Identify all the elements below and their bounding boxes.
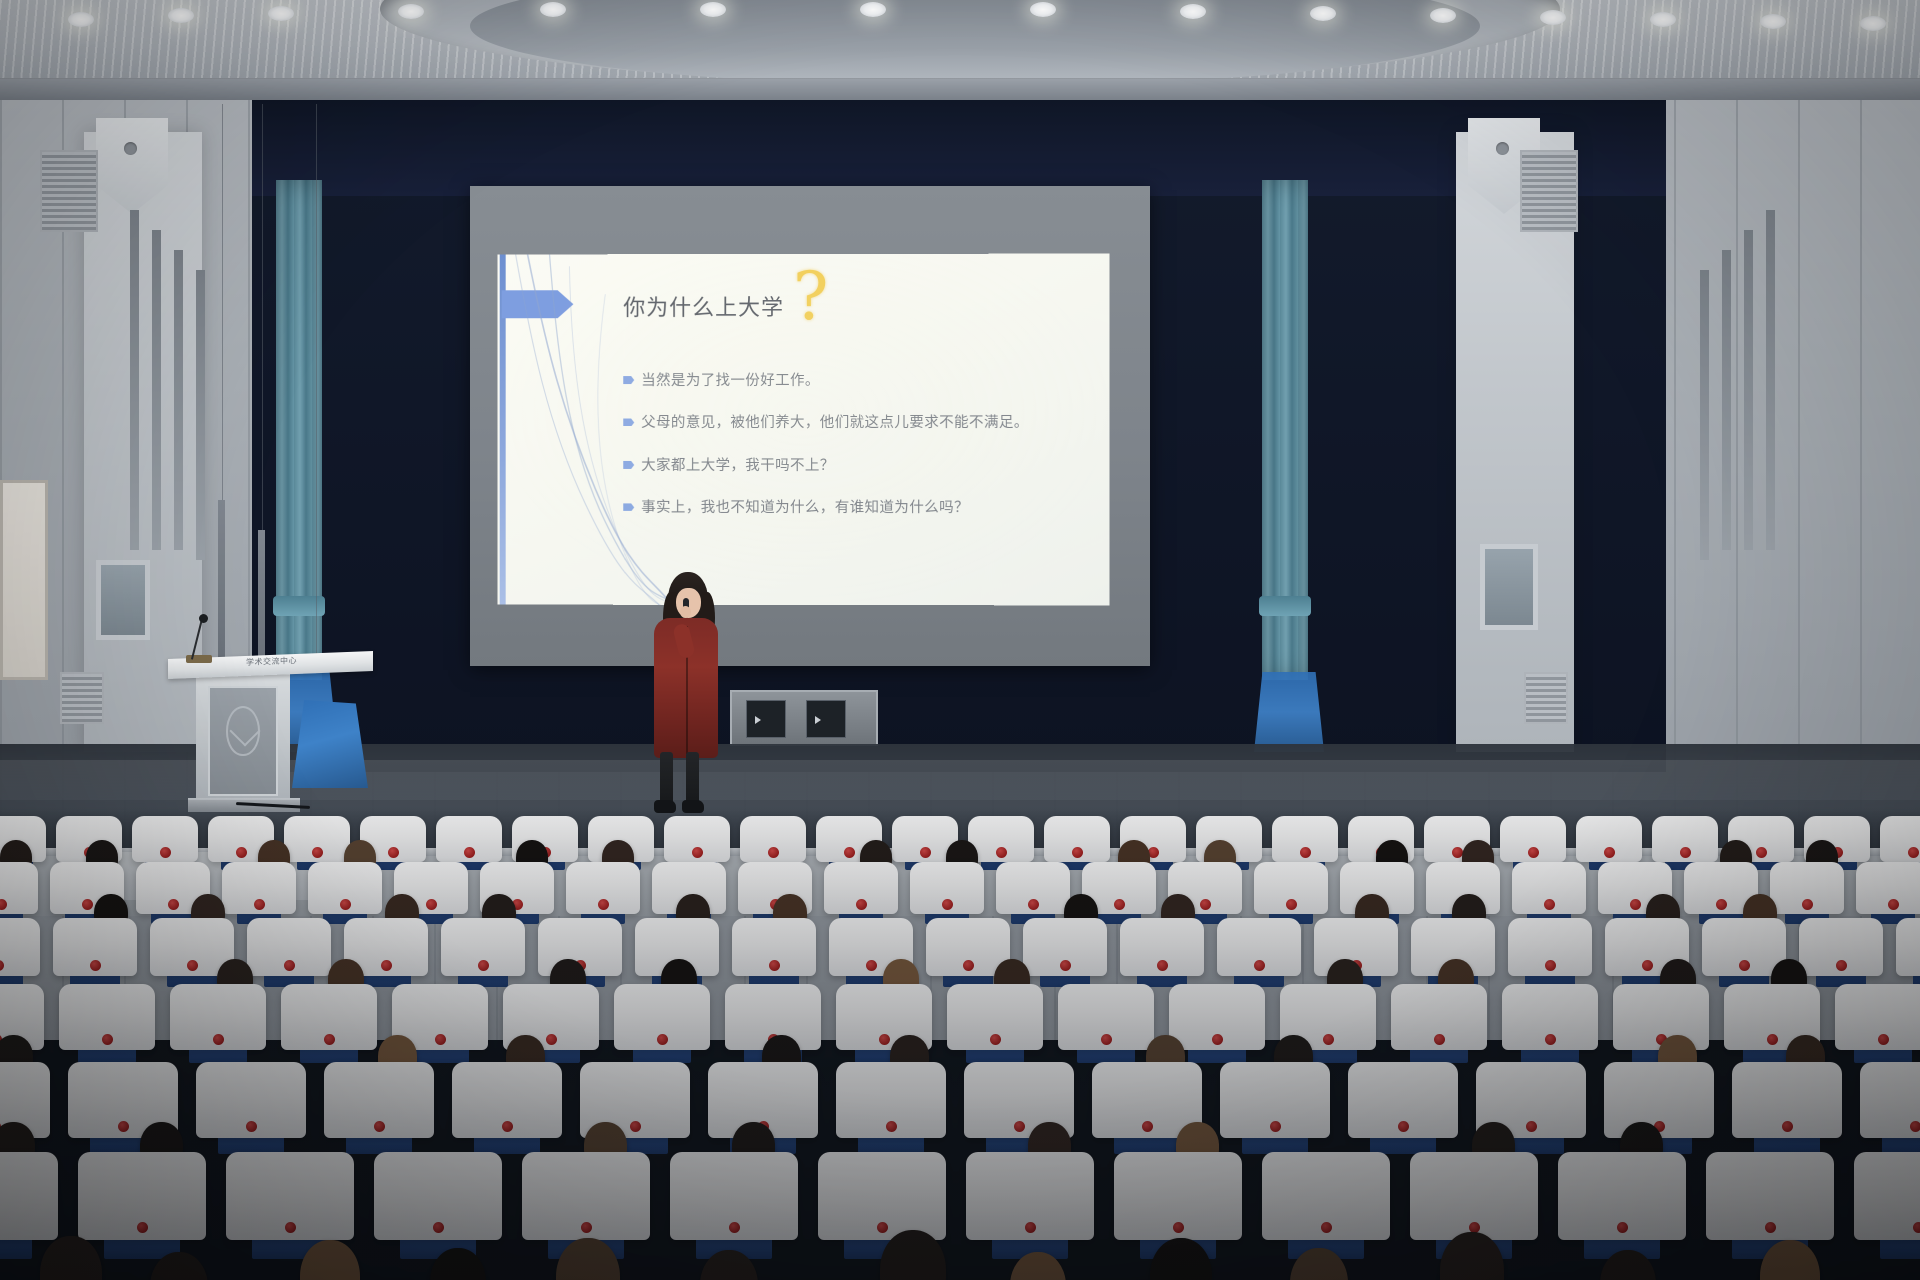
audience-seat[interactable] <box>53 918 137 976</box>
audience-seat[interactable] <box>1652 816 1718 862</box>
audience-seat[interactable] <box>522 1152 650 1240</box>
audience-seat[interactable] <box>670 1152 798 1240</box>
audience-seat[interactable] <box>1023 918 1107 976</box>
curtain-cover-right <box>1254 672 1324 752</box>
audience-seat[interactable] <box>170 984 266 1050</box>
ceiling-downlight <box>1030 2 1056 17</box>
audience-seat[interactable] <box>1854 1152 1920 1240</box>
audience-seat[interactable] <box>1508 918 1592 976</box>
audience-seat[interactable] <box>996 862 1070 914</box>
wall-fin <box>1744 230 1753 550</box>
ceiling-downlight <box>68 12 94 27</box>
audience-seat[interactable] <box>1262 1152 1390 1240</box>
pillar-ornament-left <box>124 142 137 155</box>
ceiling-downlight <box>1180 4 1206 19</box>
audience-seat[interactable] <box>441 918 525 976</box>
bullet-marker-icon <box>623 418 634 426</box>
audience-seat[interactable] <box>947 984 1043 1050</box>
audience-seat[interactable] <box>247 918 331 976</box>
ceiling-downlight <box>1430 8 1456 23</box>
audience-seat[interactable] <box>1706 1152 1834 1240</box>
av-panel-2[interactable] <box>806 700 846 738</box>
ceiling-downlight <box>268 6 294 21</box>
play-icon-1 <box>755 716 761 724</box>
podium-emblem <box>226 706 260 756</box>
audience-seat[interactable] <box>818 1152 946 1240</box>
question-mark-graphic: ? <box>793 258 828 335</box>
stage-post-2 <box>258 530 265 660</box>
audience-seat[interactable] <box>226 1152 354 1240</box>
audience-seat[interactable] <box>1576 816 1642 862</box>
ceiling-downlight <box>1310 6 1336 21</box>
audience-seat[interactable] <box>1613 984 1709 1050</box>
slide-title: 你为什么上大学 <box>623 290 784 322</box>
audience-seat[interactable] <box>836 1062 946 1138</box>
audience-seat[interactable] <box>374 1152 502 1240</box>
audience-seat[interactable] <box>0 1152 58 1240</box>
play-icon-2 <box>815 716 821 724</box>
audience-seat[interactable] <box>1502 984 1598 1050</box>
audience-seat[interactable] <box>732 918 816 976</box>
audience-seat[interactable] <box>1500 816 1566 862</box>
audience-seat[interactable] <box>0 862 38 914</box>
audience-seat[interactable] <box>284 816 350 862</box>
speaker-leg-left <box>660 752 673 804</box>
audience-seat[interactable] <box>324 1062 434 1138</box>
audience-seat[interactable] <box>1860 1062 1920 1138</box>
ceiling-downlight <box>1650 12 1676 27</box>
audience-seat[interactable] <box>1835 984 1920 1050</box>
proscenium-header <box>252 100 1666 196</box>
slide-bullet-item: 事实上，我也不知道为什么，有谁知道为什么吗？ <box>623 497 1083 521</box>
audience-seat[interactable] <box>0 918 40 976</box>
stage-post-1 <box>218 500 225 660</box>
slide-bullet-text: 大家都上大学，我干吗不上？ <box>641 455 835 479</box>
audience-seat[interactable] <box>1217 918 1301 976</box>
bullet-marker-icon <box>623 461 634 469</box>
slide-bullet-text: 当然是为了找一份好工作。 <box>641 370 820 394</box>
audience-seat[interactable] <box>222 862 296 914</box>
speaker-hand <box>680 606 691 618</box>
audience-seat[interactable] <box>1512 862 1586 914</box>
audience-seat[interactable] <box>1410 1152 1538 1240</box>
curtain-tieback-right <box>1259 596 1311 616</box>
wall-fin <box>1766 210 1775 550</box>
audience-seat[interactable] <box>281 984 377 1050</box>
audience-seat[interactable] <box>1120 918 1204 976</box>
audience-seat[interactable] <box>910 862 984 914</box>
audience-seat[interactable] <box>1272 816 1338 862</box>
slide-bullet-item: 大家都上大学，我干吗不上？ <box>623 455 1083 479</box>
slide-bullet-text: 父母的意见，被他们养大，他们就这点儿要求不能不满足。 <box>641 412 1029 436</box>
audience-seat[interactable] <box>1799 918 1883 976</box>
ceiling-downlight <box>1760 14 1786 29</box>
slide-bullet-item: 父母的意见，被他们养大，他们就这点儿要求不能不满足。 <box>623 412 1083 436</box>
audience-seat[interactable] <box>1856 862 1920 914</box>
av-panel-1[interactable] <box>746 700 786 738</box>
audience-seat[interactable] <box>1348 1062 1458 1138</box>
audience-seat[interactable] <box>740 816 806 862</box>
audience-seat[interactable] <box>1732 1062 1842 1138</box>
wall-fin <box>152 230 161 550</box>
ceiling-downlight <box>860 2 886 17</box>
slide-bullet-item: 当然是为了找一份好工作。 <box>623 370 1083 394</box>
audience-seat[interactable] <box>824 862 898 914</box>
wall-window-right <box>1480 544 1538 630</box>
audience-seat[interactable] <box>1558 1152 1686 1240</box>
ceiling-downlight <box>398 4 424 19</box>
audience-seat[interactable] <box>59 984 155 1050</box>
audience-seat[interactable] <box>1044 816 1110 862</box>
av-equipment-rack[interactable] <box>730 690 878 746</box>
audience-seat[interactable] <box>1254 862 1328 914</box>
audience-seat[interactable] <box>1391 984 1487 1050</box>
ceiling-downlight <box>168 8 194 23</box>
auditorium-scene: 你为什么上大学 ? 当然是为了找一份好工作。父母的意见，被他们养大，他们就这点儿… <box>0 0 1920 1280</box>
ceiling-downlight <box>1540 10 1566 25</box>
ceiling-downlight <box>700 2 726 17</box>
wall-vent-left <box>60 672 104 724</box>
wall-grille-left <box>40 150 98 232</box>
wall-fin <box>174 250 183 550</box>
audience-seating <box>0 800 1920 1280</box>
audience-seat[interactable] <box>1058 984 1154 1050</box>
wall-window-left <box>96 560 150 640</box>
ceiling-downlight <box>540 2 566 17</box>
curtain-tieback-left <box>273 596 325 616</box>
audience-seat[interactable] <box>1604 1062 1714 1138</box>
audience-seat[interactable] <box>1169 984 1265 1050</box>
wall-vent-right <box>1524 672 1568 724</box>
podium-nameplate: 学术交流中心 <box>246 655 297 668</box>
audience-seat[interactable] <box>1114 1152 1242 1240</box>
audience-seat[interactable] <box>436 816 502 862</box>
decorative-wall-panel <box>0 480 48 680</box>
presentation-slide[interactable]: 你为什么上大学 ? 当然是为了找一份好工作。父母的意见，被他们养大，他们就这点儿… <box>498 254 1110 606</box>
audience-seat[interactable] <box>1880 816 1920 862</box>
audience-seat[interactable] <box>614 984 710 1050</box>
blue-equipment-cover <box>292 700 368 788</box>
slide-bullet-text: 事实上，我也不知道为什么，有谁知道为什么吗？ <box>641 497 969 521</box>
audience-seat[interactable] <box>308 862 382 914</box>
wall-grille-right <box>1520 150 1578 232</box>
wall-fin <box>1700 270 1709 560</box>
audience-seat[interactable] <box>1220 1062 1330 1138</box>
pillar-ornament-right <box>1496 142 1509 155</box>
ceiling-downlight <box>1860 16 1886 31</box>
audience-seat[interactable] <box>78 1152 206 1240</box>
audience-seat[interactable] <box>566 862 640 914</box>
audience-seat[interactable] <box>132 816 198 862</box>
bullet-marker-icon <box>623 376 634 384</box>
audience-seat[interactable] <box>966 1152 1094 1240</box>
audience-seat[interactable] <box>664 816 730 862</box>
hanging-cable-3 <box>316 104 317 656</box>
audience-seat[interactable] <box>196 1062 306 1138</box>
wall-fin <box>196 270 205 560</box>
speaker-leg-right <box>686 752 699 804</box>
bullet-marker-icon <box>623 503 634 511</box>
wall-fin <box>1722 250 1731 550</box>
audience-member-head-front <box>40 1236 102 1280</box>
audience-seat[interactable] <box>1770 862 1844 914</box>
slide-bullet-list: 当然是为了找一份好工作。父母的意见，被他们养大，他们就这点儿要求不能不满足。大家… <box>623 370 1083 540</box>
microphone-icon <box>199 614 208 623</box>
audience-seat[interactable] <box>452 1062 562 1138</box>
audience-seat[interactable] <box>1896 918 1920 976</box>
wall-fin <box>130 210 139 550</box>
